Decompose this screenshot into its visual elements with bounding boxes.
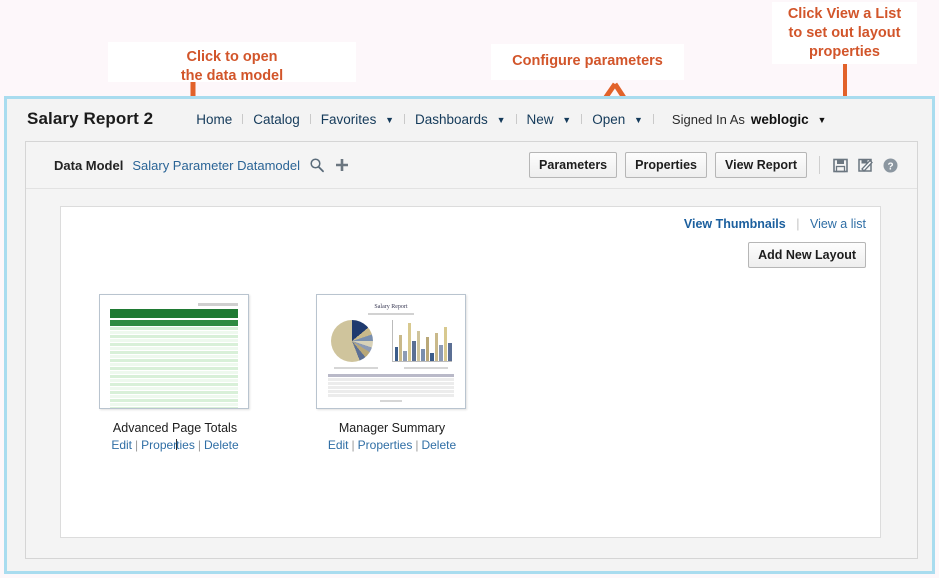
action-separator: | <box>415 438 418 452</box>
save-icon[interactable] <box>832 157 849 174</box>
view-report-button[interactable]: View Report <box>715 152 807 178</box>
layout-name: Advanced Page Totals <box>99 421 251 435</box>
layout-card: Salary Report <box>316 294 468 452</box>
layout-card: Advanced Page Totals Edit|Properties|Del… <box>99 294 251 452</box>
layout-delete-link[interactable]: Delete <box>421 438 456 452</box>
chevron-down-icon: ▼ <box>634 115 643 125</box>
user-menu[interactable]: weblogic ▼ <box>751 112 826 127</box>
nav-item-open-label: Open <box>592 112 625 127</box>
nav-item-home-label: Home <box>196 112 232 127</box>
layout-edit-link[interactable]: Edit <box>111 438 132 452</box>
callout-view-a-list-line3: properties <box>809 44 880 60</box>
report-editor-panel: Data Model Salary Parameter Datamodel Pa… <box>25 141 918 559</box>
nav-separator <box>653 114 654 124</box>
view-thumbnails-link[interactable]: View Thumbnails <box>684 217 786 231</box>
nav-item-open[interactable]: Open ▼ <box>582 112 653 127</box>
preview-report-title: Salary Report <box>321 304 461 310</box>
help-icon[interactable]: ? <box>882 157 899 174</box>
action-separator: | <box>352 438 355 452</box>
nav-item-new[interactable]: New ▼ <box>517 112 582 127</box>
toolbar-divider <box>819 156 820 174</box>
callout-open-data-model: Click to open the data model <box>108 42 356 82</box>
thumbnail-preview-salary-report: Salary Report <box>321 304 461 409</box>
callout-view-a-list: Click View a List to set out layout prop… <box>772 2 917 64</box>
application-screenshot-frame: Salary Report 2 Home Catalog Favorites ▼… <box>4 96 935 574</box>
nav-item-dashboards-label: Dashboards <box>415 112 488 127</box>
app-header: Salary Report 2 Home Catalog Favorites ▼… <box>7 99 932 139</box>
thumbnail-preview-green-table <box>104 303 244 408</box>
chevron-down-icon: ▼ <box>497 115 506 125</box>
layout-thumbnail-grid: Advanced Page Totals Edit|Properties|Del… <box>99 294 468 452</box>
chevron-down-icon: ▼ <box>562 115 571 125</box>
user-menu-label: weblogic <box>751 112 809 127</box>
chevron-down-icon: ▼ <box>817 115 826 125</box>
global-navigation: Home Catalog Favorites ▼ Dashboards ▼ Ne… <box>186 112 826 127</box>
signed-in-as-label: Signed In As <box>672 112 745 127</box>
save-as-icon[interactable] <box>857 157 874 174</box>
layout-actions: Edit|Properties|Delete <box>316 438 468 452</box>
preview-pie-chart <box>331 320 373 362</box>
toolbar-actions: Parameters Properties View Report <box>529 152 899 178</box>
layout-properties-link[interactable]: Properties <box>358 438 413 452</box>
report-toolbar: Data Model Salary Parameter Datamodel Pa… <box>26 142 917 189</box>
callout-view-a-list-line2: to set out layout <box>789 25 901 41</box>
search-icon[interactable] <box>309 157 325 173</box>
layouts-panel: View Thumbnails | View a list Add New La… <box>60 206 881 538</box>
plus-icon[interactable] <box>334 157 350 173</box>
add-new-layout-button[interactable]: Add New Layout <box>748 242 866 268</box>
nav-item-catalog-label: Catalog <box>253 112 300 127</box>
nav-item-catalog[interactable]: Catalog <box>243 112 310 127</box>
nav-item-dashboards[interactable]: Dashboards ▼ <box>405 112 515 127</box>
parameters-button[interactable]: Parameters <box>529 152 617 178</box>
callout-configure-parameters-line1: Configure parameters <box>512 53 663 69</box>
svg-text:?: ? <box>887 161 893 172</box>
data-model-selector: Data Model Salary Parameter Datamodel <box>54 157 350 173</box>
action-separator: | <box>135 438 138 452</box>
nav-item-new-label: New <box>527 112 554 127</box>
nav-item-home[interactable]: Home <box>186 112 242 127</box>
callout-view-a-list-line1: Click View a List <box>788 6 901 22</box>
action-separator: | <box>198 438 201 452</box>
view-switch-divider: | <box>796 217 799 231</box>
layouts-toolbar: View Thumbnails | View a list Add New La… <box>684 217 866 268</box>
callout-open-data-model-line1: Click to open <box>186 49 277 65</box>
page-title: Salary Report 2 <box>27 109 153 129</box>
preview-bar-chart <box>392 320 452 362</box>
chevron-down-icon: ▼ <box>385 115 394 125</box>
add-new-layout-wrap: Add New Layout <box>684 242 866 268</box>
layout-name: Manager Summary <box>316 421 468 435</box>
layout-actions: Edit|Properties|Delete <box>99 438 251 452</box>
nav-item-favorites[interactable]: Favorites ▼ <box>311 112 404 127</box>
properties-button[interactable]: Properties <box>625 152 707 178</box>
callout-configure-parameters: Configure parameters <box>491 44 684 80</box>
layout-thumbnail-manager-summary[interactable]: Salary Report <box>316 294 466 409</box>
layout-edit-link[interactable]: Edit <box>328 438 349 452</box>
view-a-list-link[interactable]: View a list <box>810 217 866 231</box>
data-model-link[interactable]: Salary Parameter Datamodel <box>132 158 300 173</box>
layout-properties-link[interactable]: Properties <box>141 438 195 452</box>
layout-thumbnail-advanced-page-totals[interactable] <box>99 294 249 409</box>
view-mode-switch: View Thumbnails | View a list <box>684 217 866 231</box>
nav-item-favorites-label: Favorites <box>321 112 377 127</box>
layout-delete-link[interactable]: Delete <box>204 438 239 452</box>
data-model-label: Data Model <box>54 158 123 173</box>
